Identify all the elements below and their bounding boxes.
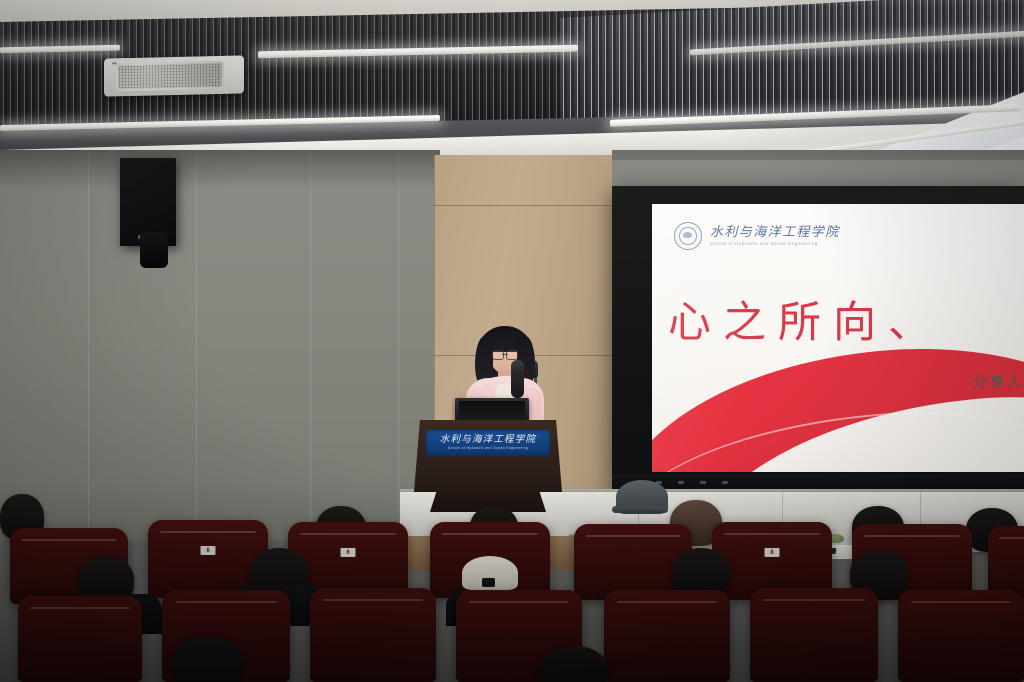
- handheld-microphone-head: [511, 360, 524, 374]
- ac-grille: [116, 61, 224, 91]
- laptop-screen: [459, 401, 525, 421]
- glasses-icon: [492, 350, 518, 358]
- slide-logo-text: 水利与海洋工程学院 School of Hydraulic and Ocean …: [710, 226, 840, 246]
- podium-sign-en: School of Hydraulic and Ocean Engineerin…: [448, 447, 528, 450]
- seat[interactable]: [898, 590, 1024, 682]
- seat-number-badge: 8: [765, 548, 780, 557]
- university-emblem-icon: [674, 222, 702, 250]
- speaker-mount-bracket: [140, 232, 168, 268]
- podium-sign-cn: 水利与海洋工程学院: [440, 435, 536, 445]
- screen-button-icon[interactable]: [700, 481, 706, 484]
- slide-logo-cn: 水利与海洋工程学院: [710, 226, 840, 239]
- slide-logo-en: School of Hydraulic and Ocean Engineerin…: [710, 242, 840, 246]
- slide-logo: 水利与海洋工程学院 School of Hydraulic and Ocean …: [674, 222, 840, 250]
- audience-head: [540, 646, 608, 682]
- seat[interactable]: [604, 590, 730, 682]
- lecture-hall-photo: 水利与海洋工程学院 School of Hydraulic and Ocean …: [0, 0, 1024, 682]
- cap-brim: [612, 506, 668, 513]
- seat[interactable]: [750, 588, 878, 682]
- seat-number-badge: 6: [341, 548, 356, 557]
- air-conditioner-icon: [104, 55, 244, 96]
- wall-top-shadow: [0, 150, 440, 190]
- left-wall-panels: [0, 150, 440, 540]
- seat-number-badge: 6: [201, 546, 216, 555]
- podium-nameplate: 水利与海洋工程学院 School of Hydraulic and Ocean …: [426, 430, 550, 456]
- audience-head: [672, 548, 730, 596]
- screen-button-icon[interactable]: [678, 481, 684, 484]
- cap-strap-clip: [482, 578, 495, 587]
- projection-screen[interactable]: 水利与海洋工程学院 School of Hydraulic and Ocean …: [652, 204, 1024, 472]
- slide-title: 心之所向、: [668, 288, 1024, 350]
- seat[interactable]: [18, 596, 142, 682]
- seat[interactable]: [310, 588, 436, 682]
- ac-mesh: [119, 64, 221, 88]
- audience-head: [172, 636, 242, 682]
- slide-presenter-line: 分享人：韩: [973, 372, 1024, 392]
- screen-button-icon[interactable]: [722, 481, 728, 484]
